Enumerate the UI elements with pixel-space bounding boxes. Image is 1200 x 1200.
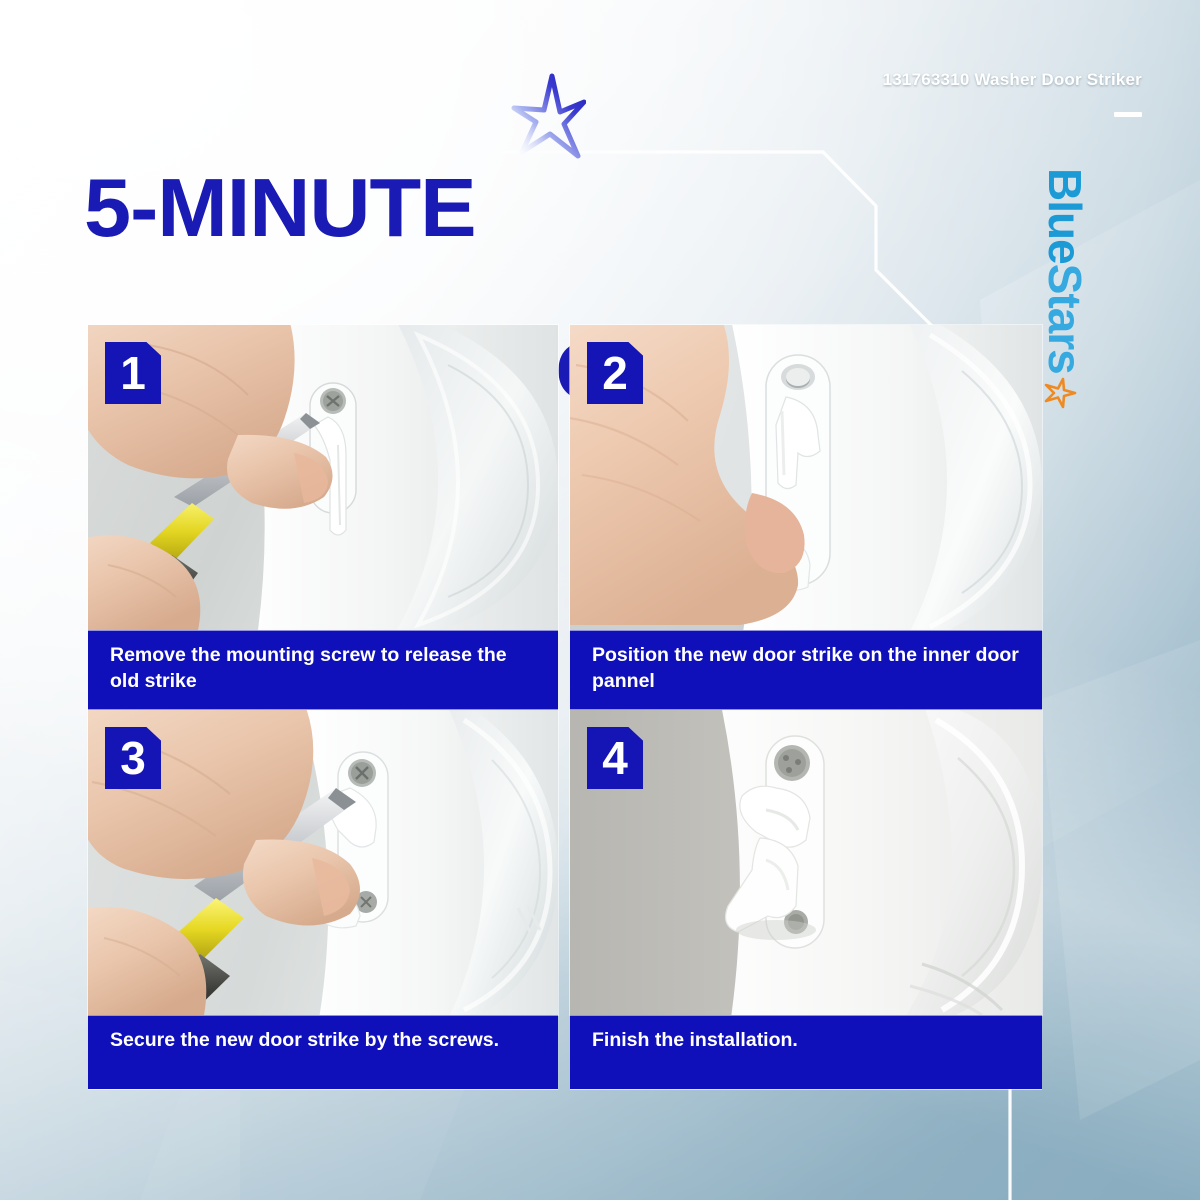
- title-line-1: 5-MINUTE: [84, 167, 798, 248]
- step-badge-2: 2: [587, 342, 643, 404]
- part-number-label: 131763310 Washer Door Striker: [883, 70, 1142, 90]
- step-badge-1: 1: [105, 342, 161, 404]
- step-badge-3: 3: [105, 727, 161, 789]
- infographic-page: 131763310 Washer Door Striker 5-MINUTE I…: [0, 0, 1200, 1200]
- step-caption-3: Secure the new door strike by the screws…: [88, 1015, 558, 1089]
- photo-removing-screw: KLEIN 1: [88, 325, 558, 630]
- photo-securing-screws: 3: [88, 710, 558, 1015]
- step-card-1: KLEIN 1 Remove the mounting screw to rel…: [88, 325, 558, 710]
- dash-icon: [1114, 112, 1142, 117]
- step-card-2: 2 Position the new door strike on the in…: [570, 325, 1042, 710]
- brand-name-stars: Stars: [1039, 264, 1091, 374]
- step-card-3: 3 Secure the new door strike by the scre…: [88, 710, 558, 1089]
- step-caption-4: Finish the installation.: [570, 1015, 1042, 1089]
- photo-positioning-strike: 2: [570, 325, 1042, 630]
- step-card-4: 4 Finish the installation.: [570, 710, 1042, 1089]
- brand-name-blue: Blue: [1039, 168, 1091, 264]
- step-caption-1: Remove the mounting screw to release the…: [88, 630, 558, 710]
- brand-logo: BlueStars: [1036, 168, 1088, 468]
- step-caption-2: Position the new door strike on the inne…: [570, 630, 1042, 710]
- five-point-star-icon: [508, 72, 586, 164]
- step-badge-4: 4: [587, 727, 643, 789]
- photo-finished-install: 4: [570, 710, 1042, 1015]
